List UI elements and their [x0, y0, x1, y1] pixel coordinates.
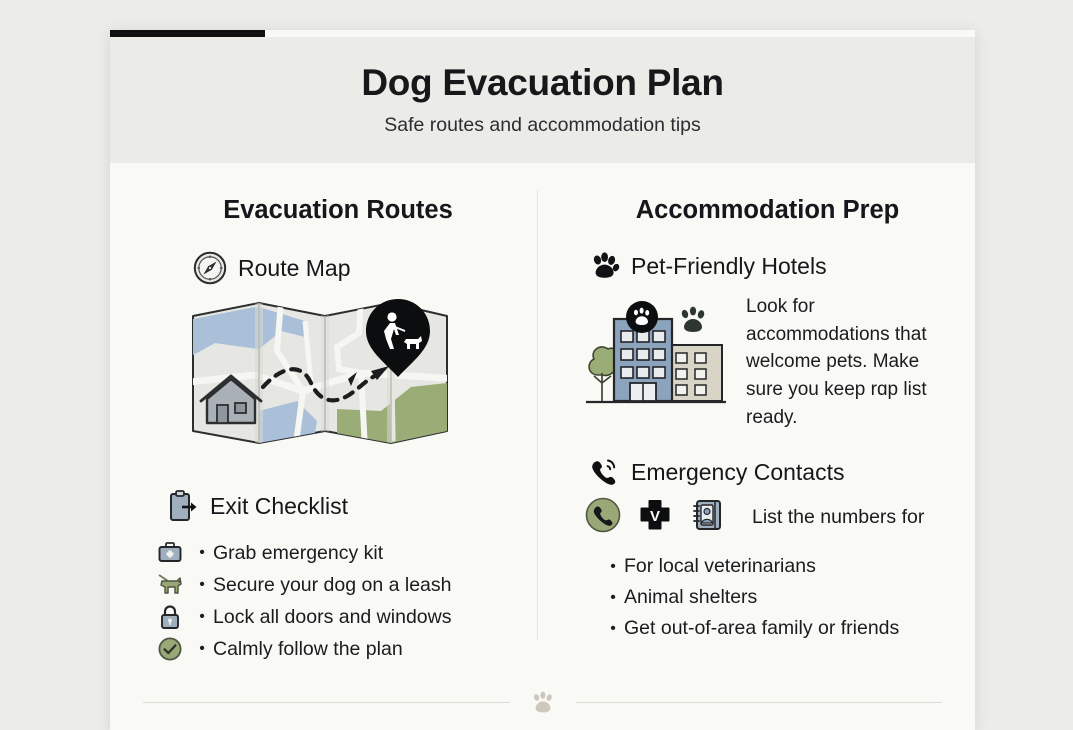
right-column-heading: Accommodation Prep: [570, 163, 965, 225]
footer-divider-left: [143, 702, 510, 703]
pet-friendly-hotels-body: Look for accommodations that welcome pet…: [746, 287, 941, 431]
exit-checklist-items: • Grab emergency kit • Secure your: [149, 537, 533, 665]
list-item: • For local veterinarians: [602, 551, 965, 582]
exit-checklist-label: Exit Checklist: [210, 493, 348, 519]
bullet: •: [191, 640, 213, 658]
footer-divider-right: [576, 702, 943, 703]
list-item: • Secure your dog on a leash: [149, 569, 533, 601]
route-map-label: Route Map: [238, 255, 351, 281]
bullet: •: [602, 620, 624, 638]
left-column-heading: Evacuation Routes: [143, 163, 533, 225]
list-item-label: Secure your dog on a leash: [213, 574, 452, 597]
compass-icon: [193, 251, 227, 285]
page-subtitle: Safe routes and accommodation tips: [384, 115, 701, 136]
pet-friendly-hotel-illustration: [580, 297, 732, 420]
list-item-label: For local veterinarians: [624, 555, 816, 578]
dog-on-leash-icon: [149, 572, 191, 598]
list-item-label: Grab emergency kit: [213, 542, 383, 565]
column-divider: [537, 190, 538, 640]
phone-circle-icon: [584, 496, 622, 539]
emergency-contacts-label: Emergency Contacts: [631, 459, 844, 485]
pet-friendly-hotel-block: Look for accommodations that welcome pet…: [580, 287, 965, 431]
exit-checklist-subheading: Exit Checklist: [167, 489, 533, 523]
emergency-contacts-icons: V: [584, 496, 965, 539]
infographic-page: Dog Evacuation Plan Safe routes and acco…: [0, 0, 1073, 720]
emergency-contacts-lead: List the numbers for: [752, 506, 924, 529]
list-item-label: Calmly follow the plan: [213, 638, 403, 661]
paw-print-icon: [588, 251, 620, 281]
list-item-label: Animal shelters: [624, 586, 757, 609]
phone-ring-icon: [588, 456, 620, 488]
first-aid-kit-icon: [149, 541, 191, 565]
left-column: Evacuation Routes: [143, 163, 533, 665]
pet-friendly-hotels-label: Pet-Friendly Hotels: [631, 253, 827, 279]
emergency-contacts-list: • For local veterinarians • Animal shelt…: [602, 551, 965, 644]
accent-bar: [110, 30, 265, 37]
vet-cross-icon: V: [636, 496, 674, 539]
padlock-icon: [149, 604, 191, 630]
bullet: •: [602, 558, 624, 576]
emergency-contacts-subheading: Emergency Contacts: [588, 456, 965, 488]
header: Dog Evacuation Plan Safe routes and acco…: [110, 37, 975, 163]
route-map-subheading: Route Map: [193, 251, 533, 285]
body-columns: Evacuation Routes: [110, 163, 975, 673]
contact-book-icon: [688, 496, 726, 539]
footer: [110, 675, 975, 730]
bullet: •: [602, 589, 624, 607]
svg-text:V: V: [650, 508, 660, 525]
bullet: •: [191, 608, 213, 626]
list-item: • Calmly follow the plan: [149, 633, 533, 665]
list-item-label: Get out-of-area family or friends: [624, 617, 899, 640]
clipboard-exit-icon: [167, 489, 199, 523]
paw-print-icon: [528, 688, 558, 718]
list-item: • Lock all doors and windows: [149, 601, 533, 633]
pet-friendly-hotels-subheading: Pet-Friendly Hotels: [588, 251, 965, 281]
list-item-label: Lock all doors and windows: [213, 606, 451, 629]
list-item: • Grab emergency kit: [149, 537, 533, 569]
list-item: • Get out-of-area family or friends: [602, 613, 965, 644]
right-column: Accommodation Prep Pet-Friendly Hotels: [570, 163, 965, 644]
folded-map-illustration: [185, 291, 533, 461]
check-circle-icon: [149, 636, 191, 662]
list-item: • Animal shelters: [602, 582, 965, 613]
bullet: •: [191, 544, 213, 562]
bullet: •: [191, 576, 213, 594]
infographic-card: Dog Evacuation Plan Safe routes and acco…: [110, 30, 975, 730]
page-title: Dog Evacuation Plan: [361, 63, 723, 104]
